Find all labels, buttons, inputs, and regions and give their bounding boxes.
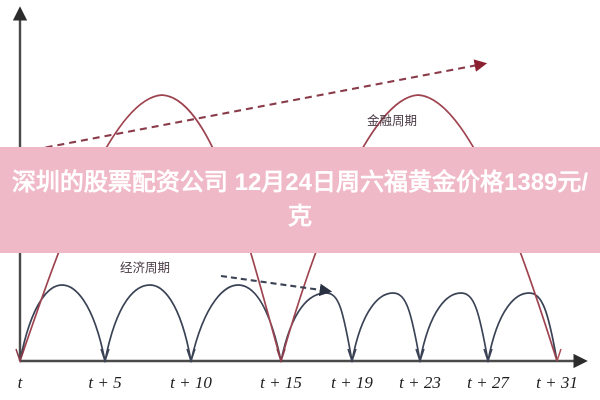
x-tick-label: t + 15 [260, 373, 302, 392]
x-tick-label: t + 27 [467, 373, 510, 392]
x-tick-label: t [18, 373, 24, 392]
chart-screenshot: t t + 5 t + 10 t + 15 t + 19 t + 23 t + … [0, 0, 600, 400]
x-axis-ticks [16, 349, 561, 361]
x-tick-label: t + 19 [331, 373, 373, 392]
overlay-caption-band: 深圳的股票配资公司 12月24日周六福黄金价格1389元/克 [0, 147, 600, 253]
financial-cycle-label: 金融周期 [367, 113, 417, 128]
x-tick-label: t + 31 [536, 373, 578, 392]
x-tick-label: t + 10 [170, 373, 212, 392]
financial-trend-arrow [22, 64, 483, 152]
x-tick-label: t + 23 [399, 373, 441, 392]
x-axis-tick-labels: t t + 5 t + 10 t + 15 t + 19 t + 23 t + … [18, 373, 578, 392]
overlay-caption-text: 深圳的股票配资公司 12月24日周六福黄金价格1389元/克 [0, 166, 600, 234]
x-tick-label: t + 5 [88, 373, 121, 392]
economic-trend-arrow [221, 276, 328, 291]
economic-cycle-label: 经济周期 [120, 260, 170, 275]
